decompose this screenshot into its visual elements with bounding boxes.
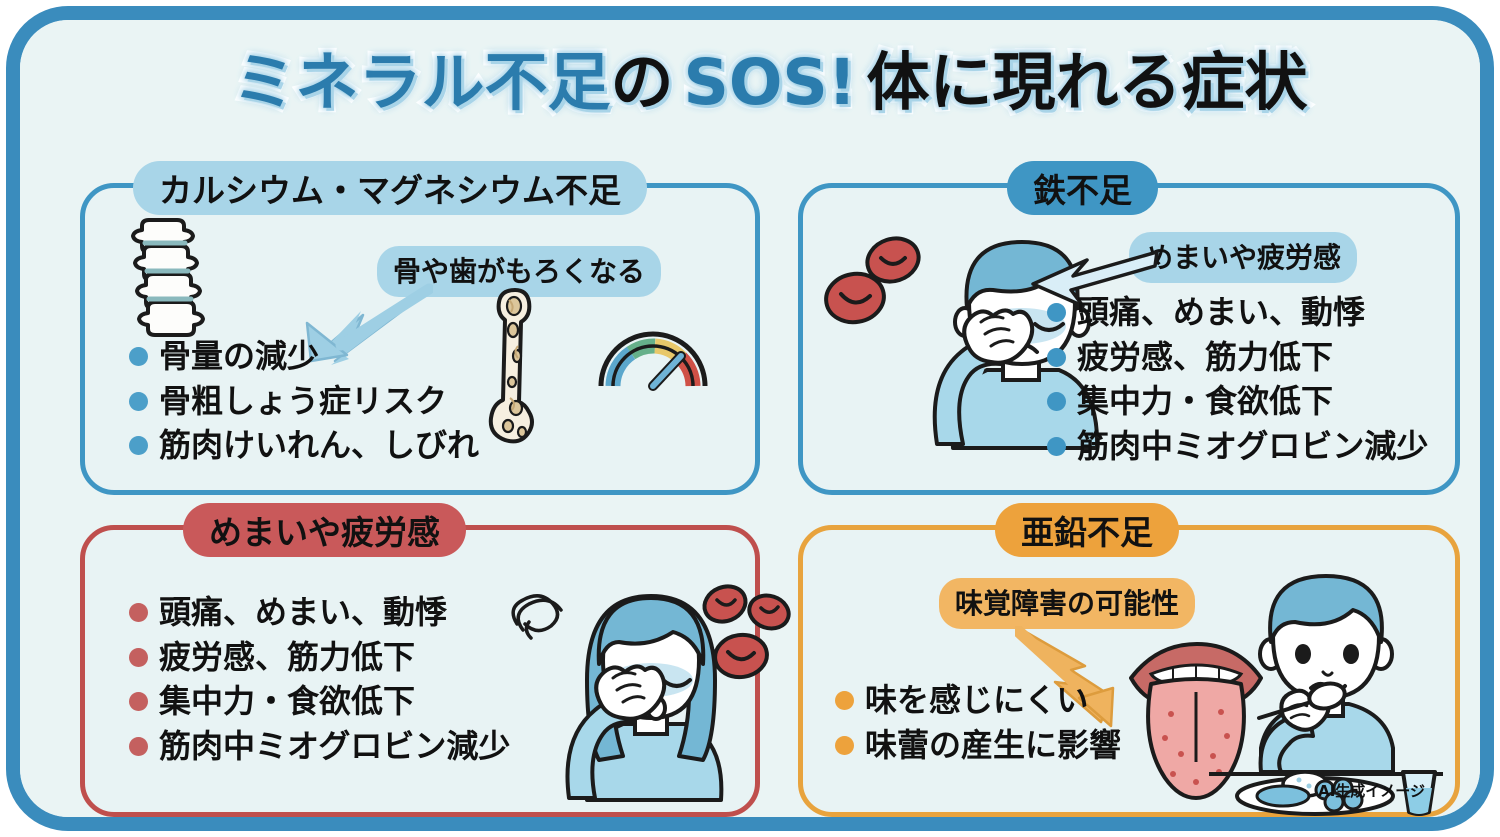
bullet-dot-icon [1047, 392, 1066, 411]
panel-header-zinc: 亜鉛不足 [995, 503, 1179, 557]
panel-iron: 鉄不足 [798, 183, 1460, 495]
list-item: 集中力・食欲低下 [1047, 381, 1428, 423]
panel-zinc: 亜鉛不足 味覚障害の可能性 [798, 525, 1460, 817]
infographic-root: ミネラル不足のSOS!体に現れる症状 カルシウム・マグネシウム不足 [0, 0, 1500, 837]
content-area: ミネラル不足のSOS!体に現れる症状 カルシウム・マグネシウム不足 [20, 20, 1480, 817]
list-item-label: 集中力・食欲低下 [159, 681, 415, 723]
callout-zinc: 味覚障害の可能性 [939, 578, 1195, 629]
bullet-dot-icon [129, 692, 148, 711]
list-item-label: 筋肉けいれん、しびれ [159, 425, 479, 467]
bullet-dot-icon [129, 392, 148, 411]
list-item-label: 頭痛、めまい、動悸 [159, 592, 447, 634]
list-item-label: 骨粗しょう症リスク [159, 381, 447, 423]
list-item: 骨量の減少 [129, 336, 479, 378]
title-part-mineral: ミネラル不足 [232, 46, 610, 120]
bullet-list-iron: 頭痛、めまい、動悸 疲労感、筋力低下 集中力・食欲低下 筋肉中ミオグロビン減少 [1047, 292, 1428, 470]
bullet-dot-icon [1047, 303, 1066, 322]
bone-marrow-icon [475, 286, 571, 454]
bullet-dot-icon [835, 691, 854, 710]
red-blood-cell-icon [699, 580, 795, 692]
list-item-label: 筋肉中ミオグロビン減少 [1077, 426, 1428, 468]
list-item: 筋肉中ミオグロビン減少 [129, 726, 510, 768]
bullet-list-zinc: 味を感じにくい 味蕾の産生に影響 [835, 680, 1121, 769]
credit-label: AI生成イメージ [1318, 780, 1425, 801]
bullet-dot-icon [129, 436, 148, 455]
list-item: 疲労感、筋力低下 [129, 637, 510, 679]
list-item-label: 頭痛、めまい、動悸 [1077, 292, 1365, 334]
bullet-dot-icon [129, 347, 148, 366]
list-item-label: 集中力・食欲低下 [1077, 381, 1333, 423]
panel-header-iron: 鉄不足 [1007, 161, 1158, 215]
list-item: 骨粗しょう症リスク [129, 381, 479, 423]
list-item: 頭痛、めまい、動悸 [1047, 292, 1428, 334]
list-item: 疲労感、筋力低下 [1047, 337, 1428, 379]
bullet-list-calcium-magnesium: 骨量の減少 骨粗しょう症リスク 筋肉けいれん、しびれ [129, 336, 479, 470]
list-item: 頭痛、めまい、動悸 [129, 592, 510, 634]
list-item-label: 筋肉中ミオグロビン減少 [159, 726, 510, 768]
bullet-dot-icon [1047, 437, 1066, 456]
list-item: 筋肉けいれん、しびれ [129, 425, 479, 467]
page-title: ミネラル不足のSOS!体に現れる症状 [20, 46, 1500, 120]
list-item: 集中力・食欲低下 [129, 681, 510, 723]
bullet-list-dizziness-fatigue: 頭痛、めまい、動悸 疲労感、筋力低下 集中力・食欲低下 筋肉中ミオグロビン減少 [129, 592, 510, 770]
panel-header-calcium-magnesium: カルシウム・マグネシウム不足 [133, 161, 647, 215]
list-item-label: 疲労感、筋力低下 [1077, 337, 1333, 379]
bullet-dot-icon [835, 736, 854, 755]
bullet-dot-icon [1047, 348, 1066, 367]
outer-frame: ミネラル不足のSOS!体に現れる症状 カルシウム・マグネシウム不足 [6, 6, 1494, 831]
callout-iron: めまいや疲労感 [1129, 232, 1357, 283]
title-part-sos: SOS! [683, 46, 856, 120]
list-item-label: 味を感じにくい [865, 680, 1088, 722]
boy-eating-icon [1203, 568, 1449, 816]
panel-calcium-magnesium: カルシウム・マグネシウム不足 [80, 183, 760, 495]
bullet-dot-icon [129, 603, 148, 622]
title-part-no: の [610, 46, 673, 120]
list-item-label: 骨量の減少 [159, 336, 319, 378]
list-item-label: 味蕾の産生に影響 [865, 725, 1121, 767]
spine-icon [123, 212, 209, 337]
bullet-dot-icon [129, 737, 148, 756]
panel-dizziness-fatigue: めまいや疲労感 頭痛、めまい、動悸 疲労感、筋力低下 集中力・食欲低下 [80, 525, 760, 817]
title-part-symptoms: 体に現れる症状 [867, 46, 1308, 120]
list-item: 味蕾の産生に影響 [835, 725, 1121, 767]
list-item-label: 疲労感、筋力低下 [159, 637, 415, 679]
panel-header-dizziness-fatigue: めまいや疲労感 [183, 503, 466, 557]
list-item: 筋肉中ミオグロビン減少 [1047, 426, 1428, 468]
list-item: 味を感じにくい [835, 680, 1121, 722]
gauge-icon [593, 310, 713, 396]
bullet-dot-icon [129, 648, 148, 667]
